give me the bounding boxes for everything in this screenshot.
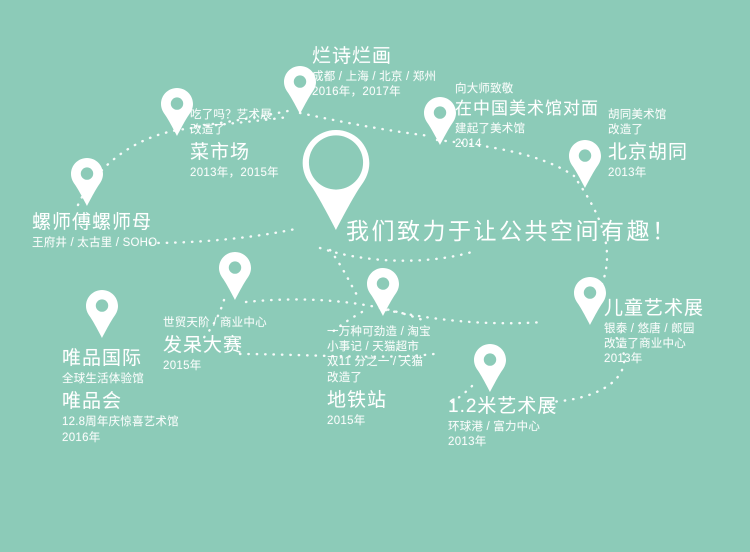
map-pin-meishuguan[interactable] <box>423 97 457 145</box>
marker-label-line: 发呆大赛 <box>163 333 267 358</box>
marker-label-line: 2013年 <box>604 352 704 367</box>
route-path <box>386 310 544 323</box>
marker-label-ditiezhan: 一万种可劲造 / 淘宝小事记 / 天猫超市双11 分之一 / 天猫改造了地铁站2… <box>327 325 431 429</box>
marker-label-line: 一万种可劲造 / 淘宝 <box>327 325 431 340</box>
marker-label-line: 双11 分之一 / 天猫 <box>327 355 431 370</box>
map-pin-icon <box>300 130 372 230</box>
marker-label-line: 世贸天阶 / 商业中心 <box>163 316 267 331</box>
marker-label-luoshifu: 螺师傅螺师母王府井 / 太古里 / SOHO <box>32 208 157 251</box>
marker-label-line: 银泰 / 悠唐 / 郎园 <box>604 322 704 337</box>
marker-label-line: 改造了 <box>190 123 279 138</box>
map-pin-ertong[interactable] <box>573 277 607 325</box>
marker-label-line: 环球港 / 富力中心 <box>448 420 557 435</box>
main-slogan: 我们致力于让公共空间有趣！ <box>346 212 678 246</box>
map-pin-luoshifu[interactable] <box>70 158 104 206</box>
marker-label-line: 北京胡同 <box>608 140 688 165</box>
marker-label-line: 建起了美术馆 <box>455 122 599 137</box>
marker-label-line: 2013年，2015年 <box>190 166 279 181</box>
marker-label-fadaidasai: 世贸天阶 / 商业中心发呆大赛2015年 <box>163 316 267 374</box>
marker-label-line: 胡同美术馆 <box>608 108 688 123</box>
map-pin-beijinghutong[interactable] <box>568 140 602 188</box>
marker-label-line: 1.2米艺术展 <box>448 394 557 419</box>
marker-label-line: 儿童艺术展 <box>604 296 704 321</box>
route-path <box>246 299 428 322</box>
map-pin-ditiezhan[interactable] <box>366 268 400 316</box>
marker-label-line: 菜市场 <box>190 140 279 165</box>
marker-label-mi12: 1.2米艺术展环球港 / 富力中心2013年 <box>448 392 557 450</box>
marker-label-ertong: 儿童艺术展银泰 / 悠唐 / 郎园改造了商业中心2013年 <box>604 294 704 368</box>
map-pin-icon <box>473 344 507 392</box>
marker-label-weipin: 唯品国际全球生活体验馆唯品会12.8周年庆惊喜艺术馆2016年 <box>62 344 179 446</box>
marker-label-line: 改造了 <box>327 371 431 386</box>
map-pin-icon <box>423 97 457 145</box>
marker-label-caishichang: 吃了吗？艺术展改造了菜市场2013年，2015年 <box>190 108 279 182</box>
marker-label-line: 2015年 <box>163 359 267 374</box>
map-pin-fadaidasai[interactable] <box>218 252 252 300</box>
marker-label-line: 改造了 <box>608 123 688 138</box>
map-pin-icon <box>70 158 104 206</box>
marker-label-line: 2015年 <box>327 414 431 429</box>
marker-label-line: 改造了商业中心 <box>604 337 704 352</box>
marker-label-line: 2016年 <box>62 431 179 446</box>
map-pin-icon <box>568 140 602 188</box>
map-pin-icon <box>218 252 252 300</box>
marker-label-line: 吃了吗？艺术展 <box>190 108 279 123</box>
map-pin-icon <box>160 88 194 136</box>
map-pin-caishichang[interactable] <box>160 88 194 136</box>
map-pin-center-hub[interactable] <box>300 130 372 230</box>
infographic-canvas: 我们致力于让公共空间有趣！ 螺师傅螺师母王府井 / 太古里 / SOHO吃了吗？… <box>0 0 750 552</box>
marker-label-line: 成都 / 上海 / 北京 / 郑州 <box>312 70 436 85</box>
marker-label-line: 在中国美术馆对面 <box>455 98 599 120</box>
marker-label-line: 烂诗烂画 <box>312 44 436 69</box>
marker-label-line: 地铁站 <box>327 388 431 413</box>
marker-label-line: 向大师致敬 <box>455 82 599 97</box>
marker-label-line: 2013年 <box>448 435 557 450</box>
marker-label-line: 2013年 <box>608 166 688 181</box>
marker-label-line: 12.8周年庆惊喜艺术馆 <box>62 415 179 430</box>
marker-label-line: 2016年，2017年 <box>312 85 436 100</box>
marker-label-line: 小事记 / 天猫超市 <box>327 340 431 355</box>
route-path <box>320 248 472 261</box>
marker-label-line: 唯品国际 <box>62 346 179 371</box>
map-pin-icon <box>366 268 400 316</box>
map-pin-icon <box>573 277 607 325</box>
map-pin-icon <box>85 290 119 338</box>
marker-label-beijinghutong: 胡同美术馆改造了北京胡同2013年 <box>608 108 688 182</box>
marker-label-line: 唯品会 <box>62 389 179 414</box>
route-path <box>150 228 300 243</box>
map-pin-mi12[interactable] <box>473 344 507 392</box>
marker-label-lanshilanhua: 烂诗烂画成都 / 上海 / 北京 / 郑州2016年，2017年 <box>312 42 436 100</box>
route-path <box>330 250 360 300</box>
marker-label-line: 全球生活体验馆 <box>62 372 179 387</box>
marker-label-line: 螺师傅螺师母 <box>32 210 157 235</box>
marker-label-line: 王府井 / 太古里 / SOHO <box>32 236 157 251</box>
map-pin-weipin[interactable] <box>85 290 119 338</box>
